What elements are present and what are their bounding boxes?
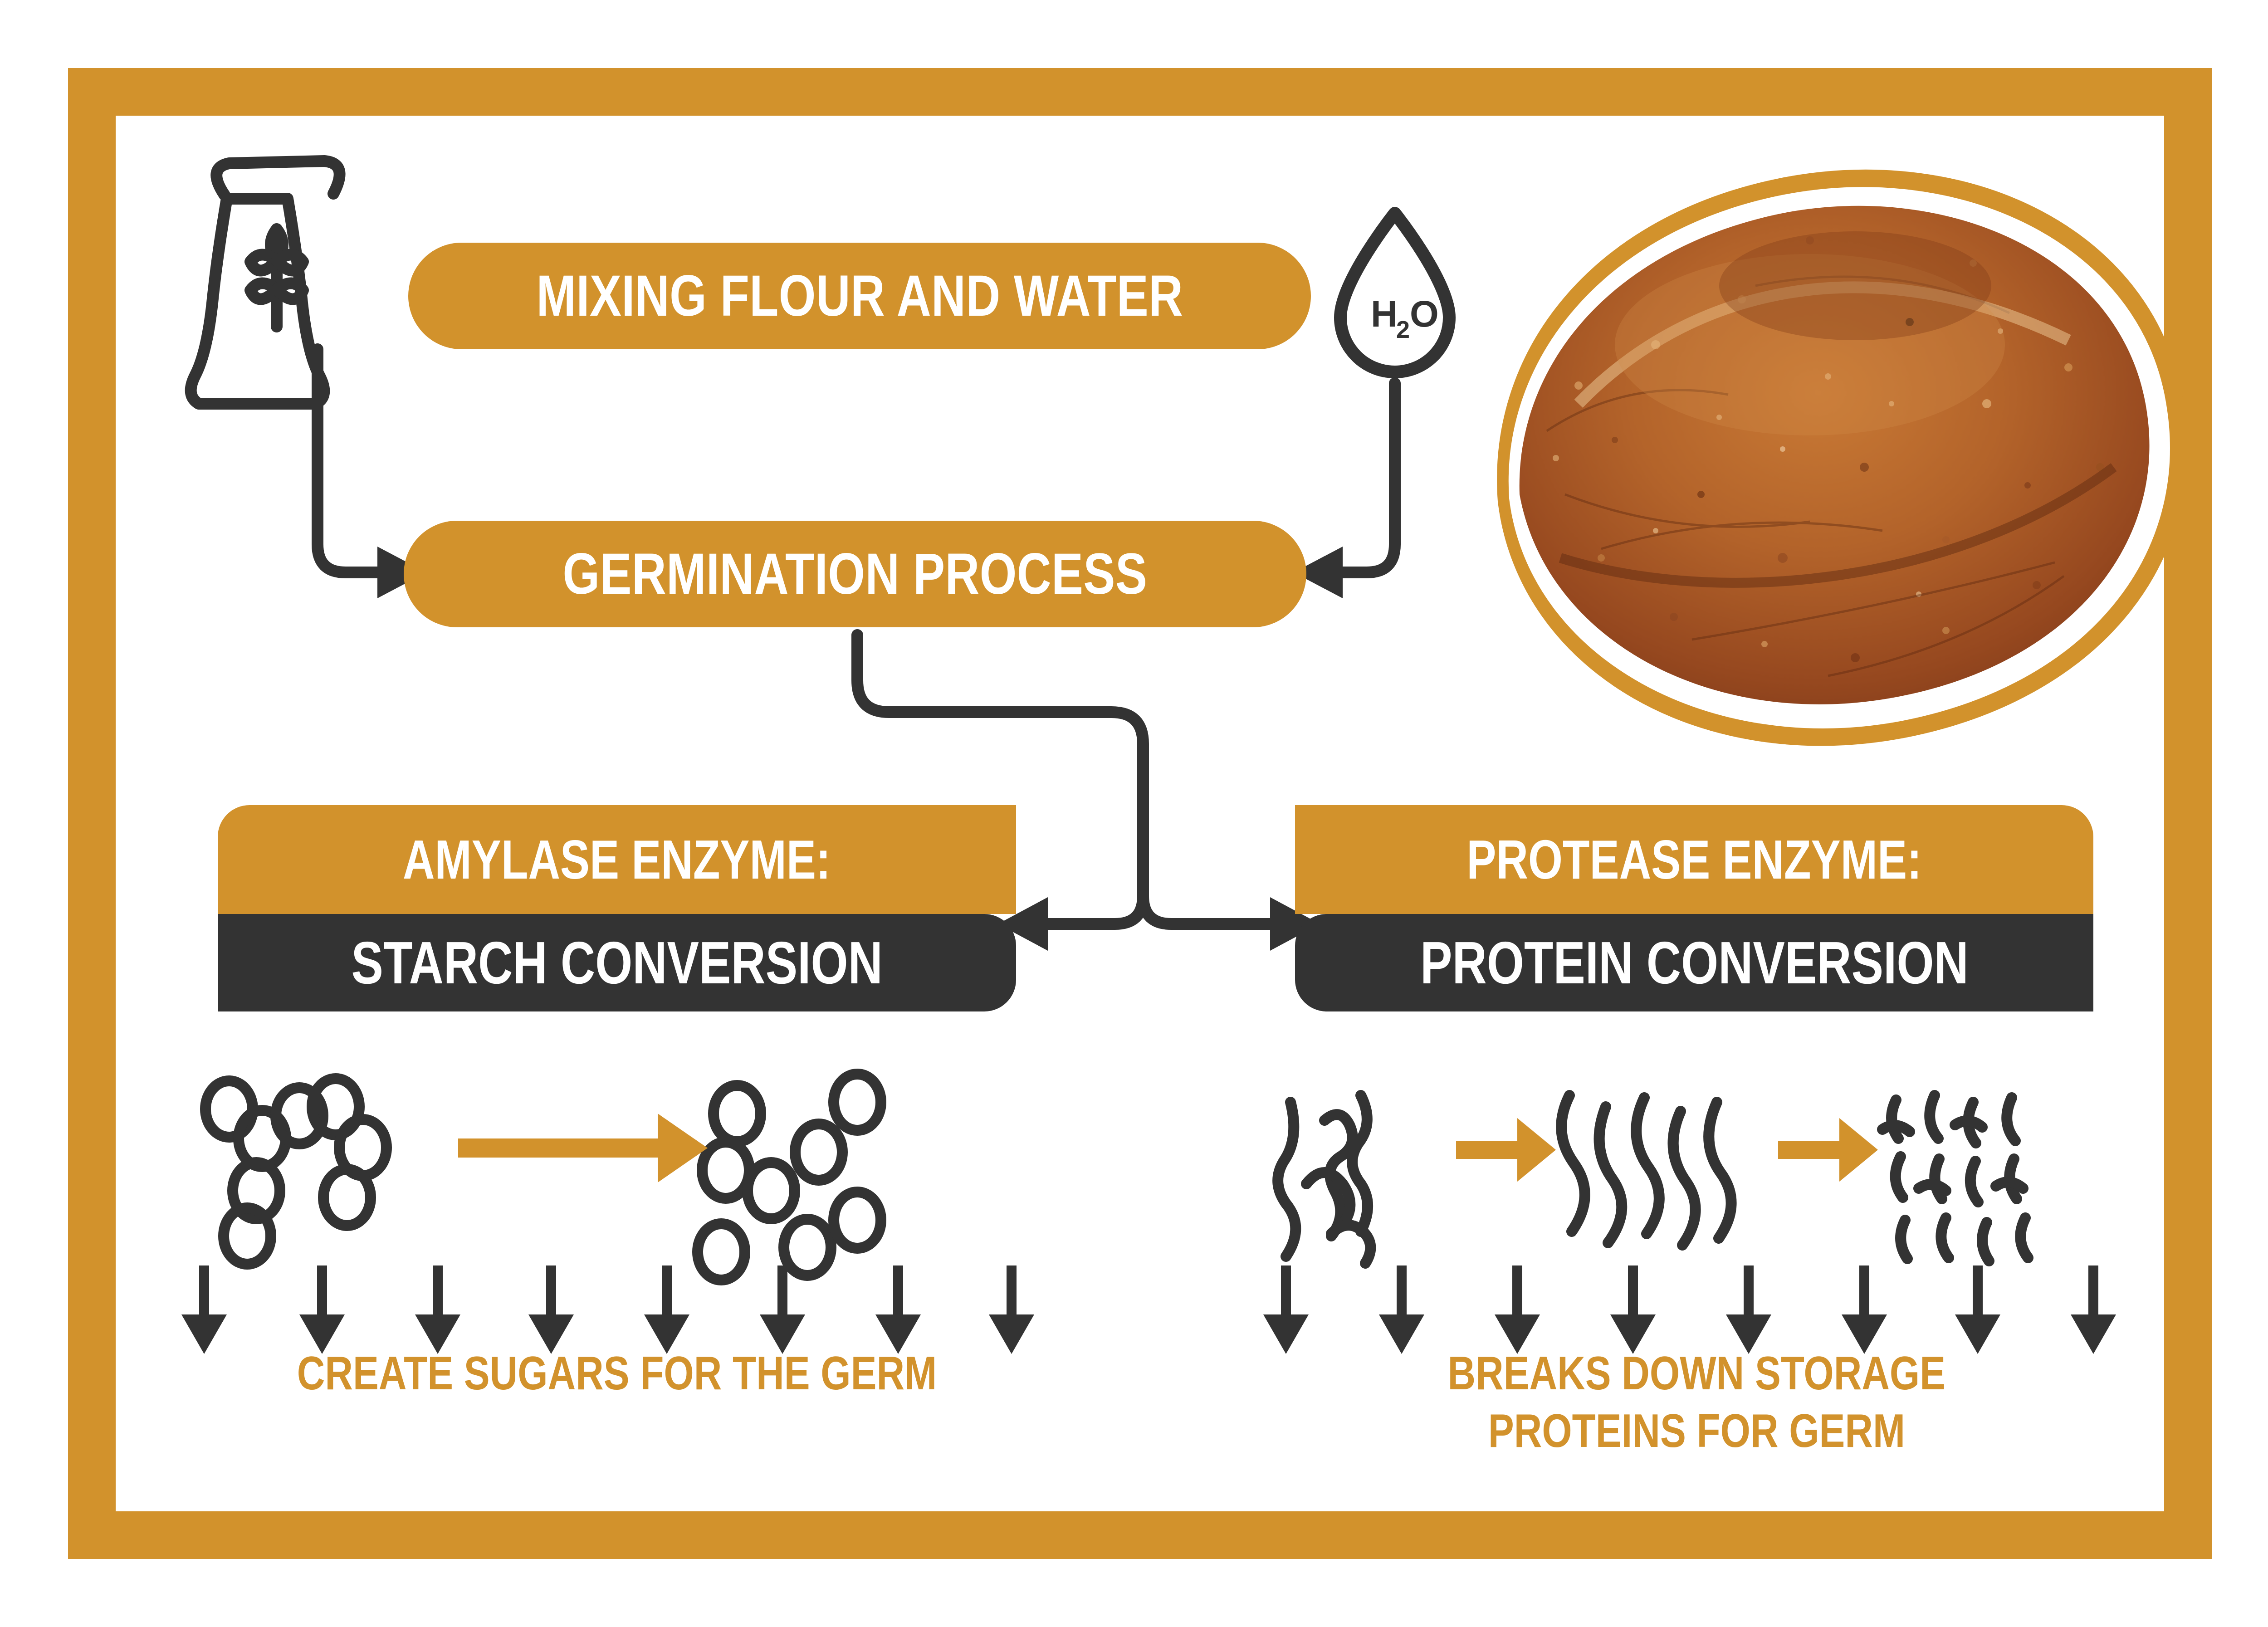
card-amylase-title: AMYLASE ENZYME: [403,828,831,891]
card-protease-subtitle: PROTEIN CONVERSION [1420,928,1969,997]
card-amylase-subtitle: STARCH CONVERSION [351,928,882,997]
caption-protease-outcome: BREAKS DOWN STORAGE PROTEINS FOR GERM [1306,1345,2087,1460]
step-mixing-label: MIXING FLOUR AND WATER [536,263,1183,329]
step-germination-label: GERMINATION PROCESS [563,541,1148,607]
caption-protease-line-2: PROTEINS FOR GERM [1488,1402,1905,1460]
caption-amylase-line-1: CREATE SUGARS FOR THE GERM [297,1345,937,1402]
bread-loaf-photo [1465,150,2200,757]
card-protease-title: PROTEASE ENZYME: [1466,828,1921,891]
card-protease-title-bar: PROTEASE ENZYME: [1295,805,2093,914]
caption-protease-line-1: BREAKS DOWN STORAGE [1447,1345,1945,1402]
step-mixing-flour-and-water[interactable]: MIXING FLOUR AND WATER [408,243,1311,349]
card-amylase-title-bar: AMYLASE ENZYME: [218,805,1016,914]
step-germination-process[interactable]: GERMINATION PROCESS [404,521,1306,627]
card-protease-enzyme[interactable]: PROTEASE ENZYME: PROTEIN CONVERSION [1295,805,2093,1011]
card-protease-subtitle-bar: PROTEIN CONVERSION [1295,914,2093,1011]
infographic-stage: H 2 O [0,0,2268,1627]
card-amylase-subtitle-bar: STARCH CONVERSION [218,914,1016,1011]
card-amylase-enzyme[interactable]: AMYLASE ENZYME: STARCH CONVERSION [218,805,1016,1011]
caption-amylase-outcome: CREATE SUGARS FOR THE GERM [150,1345,1084,1402]
